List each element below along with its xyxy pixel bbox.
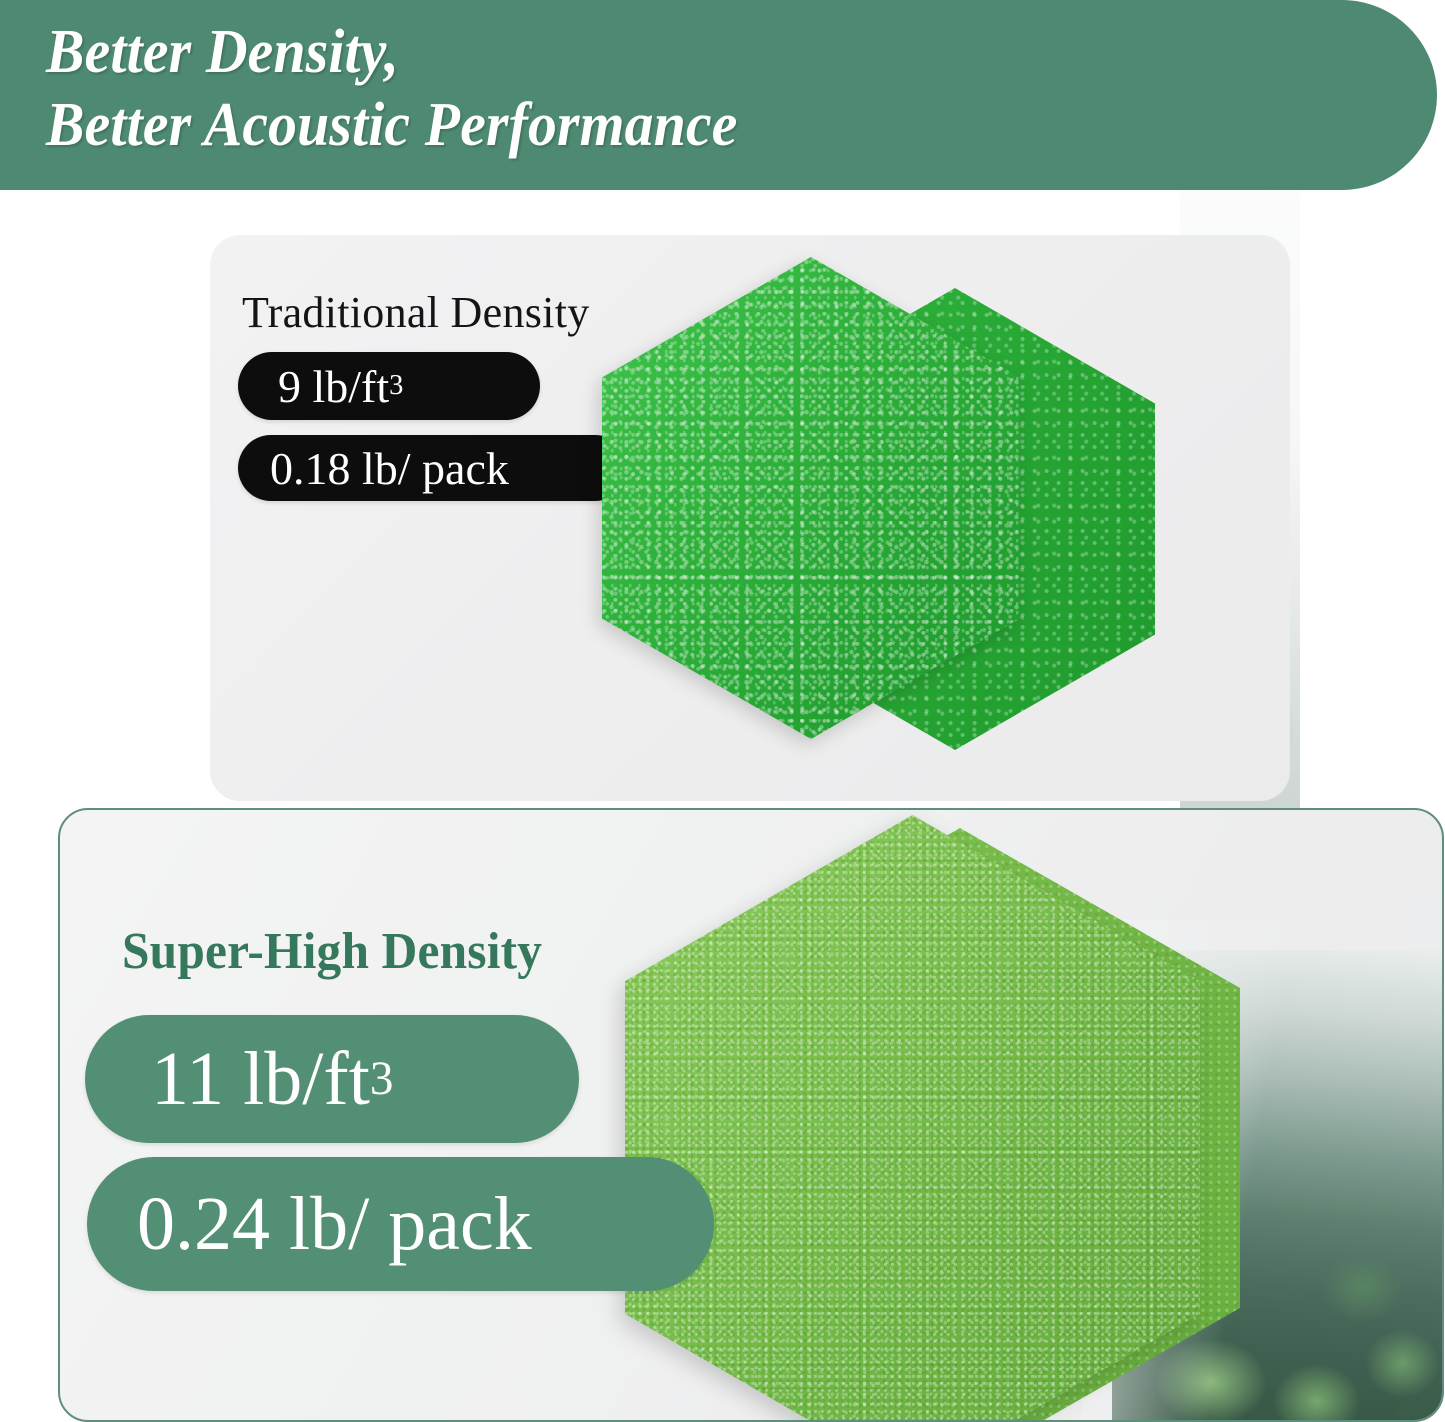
- super-high-weight-value: 0.24 lb/ pack: [137, 1181, 532, 1268]
- hexagon-acoustic-panel-icon: [602, 257, 1020, 739]
- super-high-density-heading: Super-High Density: [122, 922, 542, 981]
- super-high-density-card: Super-High Density 11 lb/ft3 0.24 lb/ pa…: [58, 808, 1444, 1422]
- page-title: Better Density, Better Acoustic Performa…: [46, 16, 1143, 162]
- super-high-panel-front: [625, 815, 1200, 1422]
- traditional-panel-front: [602, 257, 1020, 739]
- super-high-density-value: 11 lb/ft: [151, 1036, 370, 1123]
- traditional-density-value-badge: 9 lb/ft3: [238, 352, 540, 420]
- traditional-density-card: Traditional Density 9 lb/ft3 0.18 lb/ pa…: [210, 235, 1290, 801]
- traditional-density-value: 9 lb/ft: [278, 360, 389, 413]
- header-banner: Better Density, Better Acoustic Performa…: [0, 0, 1437, 190]
- traditional-weight-value-badge: 0.18 lb/ pack: [238, 435, 628, 501]
- super-high-density-value-badge: 11 lb/ft3: [85, 1015, 579, 1143]
- traditional-density-heading: Traditional Density: [242, 287, 590, 338]
- traditional-weight-value: 0.18 lb/ pack: [270, 442, 509, 495]
- hexagon-acoustic-panel-icon: [625, 815, 1200, 1422]
- super-high-weight-value-badge: 0.24 lb/ pack: [87, 1157, 714, 1291]
